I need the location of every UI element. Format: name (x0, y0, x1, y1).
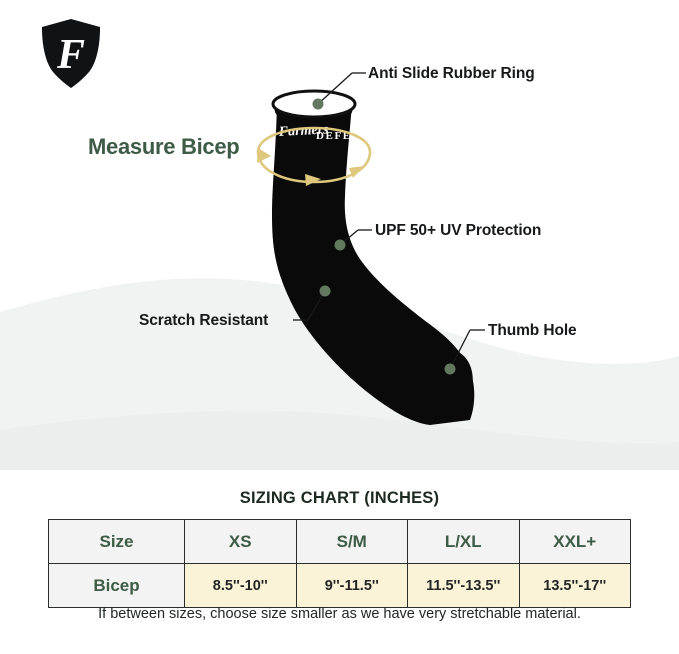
header-cell-xxl: XXL+ (519, 520, 631, 564)
product-infographic: F Farmers DEFENSE (0, 0, 679, 654)
callout-label-upf-protection: UPF 50+ UV Protection (375, 222, 541, 240)
cell-bicep-xs: 8.5''-10'' (185, 564, 297, 608)
marker-scratch (320, 286, 331, 297)
marker-upf (335, 240, 346, 251)
header-cell-sm: S/M (296, 520, 408, 564)
cell-bicep-lxl: 11.5''-13.5'' (408, 564, 520, 608)
sleeve-silhouette (272, 103, 474, 425)
callout-label-thumb-hole: Thumb Hole (488, 322, 577, 340)
marker-anti-slide (313, 99, 324, 110)
table-header-row: Size XS S/M L/XL XXL+ (49, 520, 631, 564)
sizing-chart-note: If between sizes, choose size smaller as… (0, 606, 679, 622)
cell-bicep-sm: 9''-11.5'' (296, 564, 408, 608)
sizing-chart-table: Size XS S/M L/XL XXL+ Bicep 8.5''-10'' 9… (48, 519, 631, 608)
header-cell-xs: XS (185, 520, 297, 564)
arm-sleeve-illustration: Farmers DEFENSE (0, 0, 679, 470)
table-row: Bicep 8.5''-10'' 9''-11.5'' 11.5''-13.5'… (49, 564, 631, 608)
callout-label-measure-bicep: Measure Bicep (88, 134, 239, 160)
header-cell-lxl: L/XL (408, 520, 520, 564)
callout-label-scratch-resistant: Scratch Resistant (139, 312, 268, 330)
marker-thumb-hole (445, 364, 456, 375)
sizing-chart-title: SIZING CHART (INCHES) (0, 489, 679, 508)
callout-label-anti-slide-rubber-ring: Anti Slide Rubber Ring (368, 65, 535, 83)
header-cell-size: Size (49, 520, 185, 564)
cell-bicep-xxl: 13.5''-17'' (519, 564, 631, 608)
row-label-bicep: Bicep (49, 564, 185, 608)
